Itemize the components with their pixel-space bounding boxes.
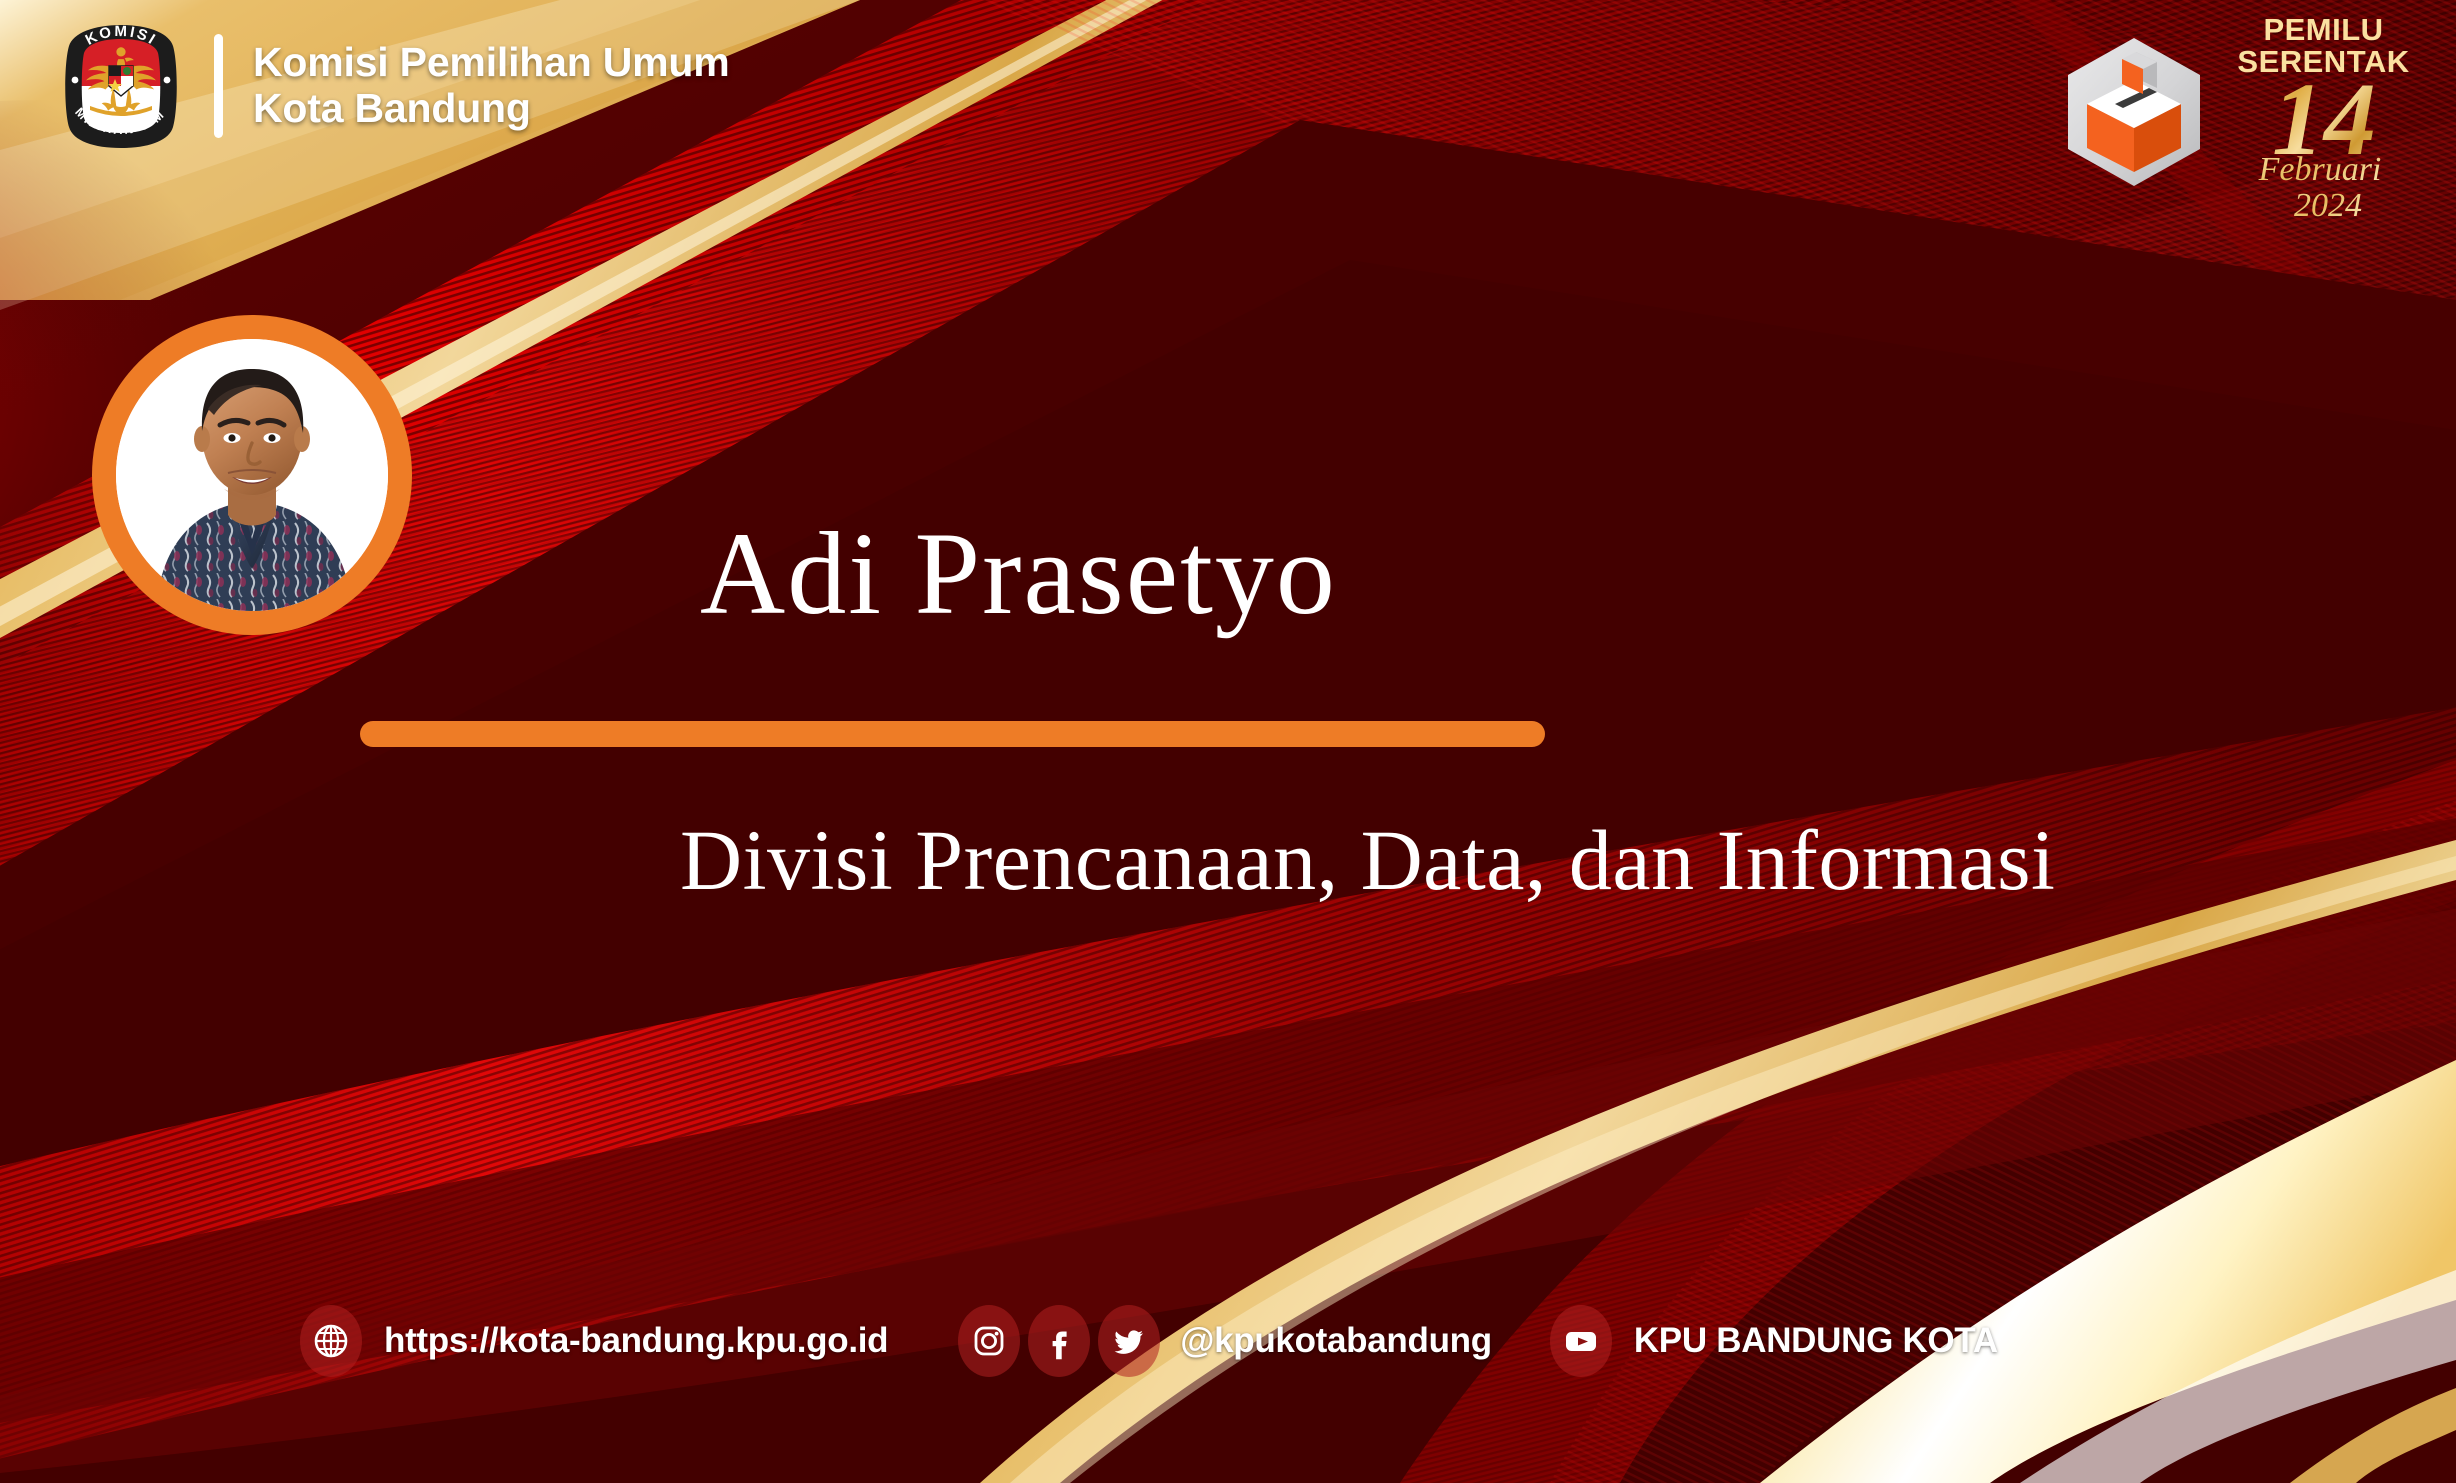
page-title: Adi Prasetyo (700, 515, 1337, 633)
facebook-icon[interactable] (1028, 1305, 1090, 1377)
twitter-icon[interactable] (1098, 1305, 1160, 1377)
social-handle[interactable]: @kpukotabandung (1180, 1321, 1492, 1361)
avatar (92, 315, 412, 635)
footer: https://kota-bandung.kpu.go.id @kpukotab… (300, 1305, 1998, 1377)
youtube-icon[interactable] (1550, 1305, 1612, 1377)
orange-divider-bar (360, 721, 1545, 747)
profile-role: Divisi Prencanaan, Data, dan Informasi (680, 815, 2055, 905)
ballot-box-hexagon-icon (2057, 32, 2211, 192)
org-line-2: Kota Bandung (253, 86, 730, 132)
kpu-emblem-icon: KOMISI PEMILIHAN U MUM (60, 22, 182, 150)
website-url[interactable]: https://kota-bandung.kpu.go.id (384, 1321, 888, 1361)
year-text: 2024 (2294, 187, 2362, 222)
portrait-photo (116, 339, 388, 611)
organization-name: Komisi Pemilihan Umum Kota Bandung (253, 40, 730, 132)
instagram-icon[interactable] (958, 1305, 1020, 1377)
pemilu-date-block: PEMILU SERENTAK 14 (2221, 8, 2426, 222)
header: KOMISI PEMILIHAN U MUM Komisi Pemilihan … (60, 22, 730, 150)
org-line-1: Komisi Pemilihan Umum (253, 40, 730, 86)
pemilu-title: PEMILU SERENTAK (2237, 14, 2409, 78)
pemilu-title-line-1: PEMILU (2237, 14, 2409, 46)
youtube-channel[interactable]: KPU BANDUNG KOTA (1634, 1321, 1998, 1361)
header-divider (214, 34, 223, 138)
globe-icon[interactable] (300, 1305, 362, 1377)
month-text: Februari (2257, 151, 2381, 188)
pemilu-month-year: Februari 2024 (2224, 146, 2424, 222)
pemilu-emblem: PEMILU SERENTAK 14 (2057, 8, 2426, 222)
kpu-profile-banner: KOMISI PEMILIHAN U MUM Komisi Pemilihan … (0, 0, 2456, 1483)
